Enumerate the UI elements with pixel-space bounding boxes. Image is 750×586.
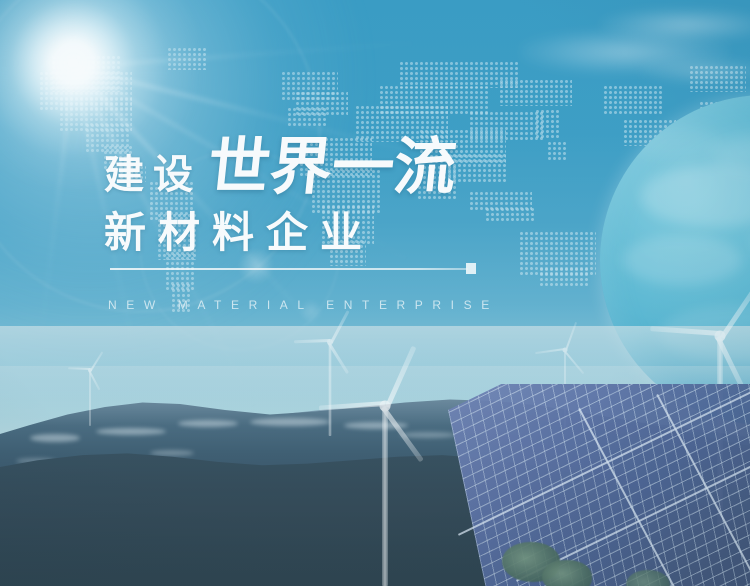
mountain-landscape [0,326,750,586]
hero-banner: 建设 世界一流 新材料企业 NEW MATERIAL ENTERPRISE [0,0,750,586]
lens-flare-ball [300,300,322,322]
atmospheric-haze [0,326,750,416]
lens-flare-ball [238,248,274,284]
